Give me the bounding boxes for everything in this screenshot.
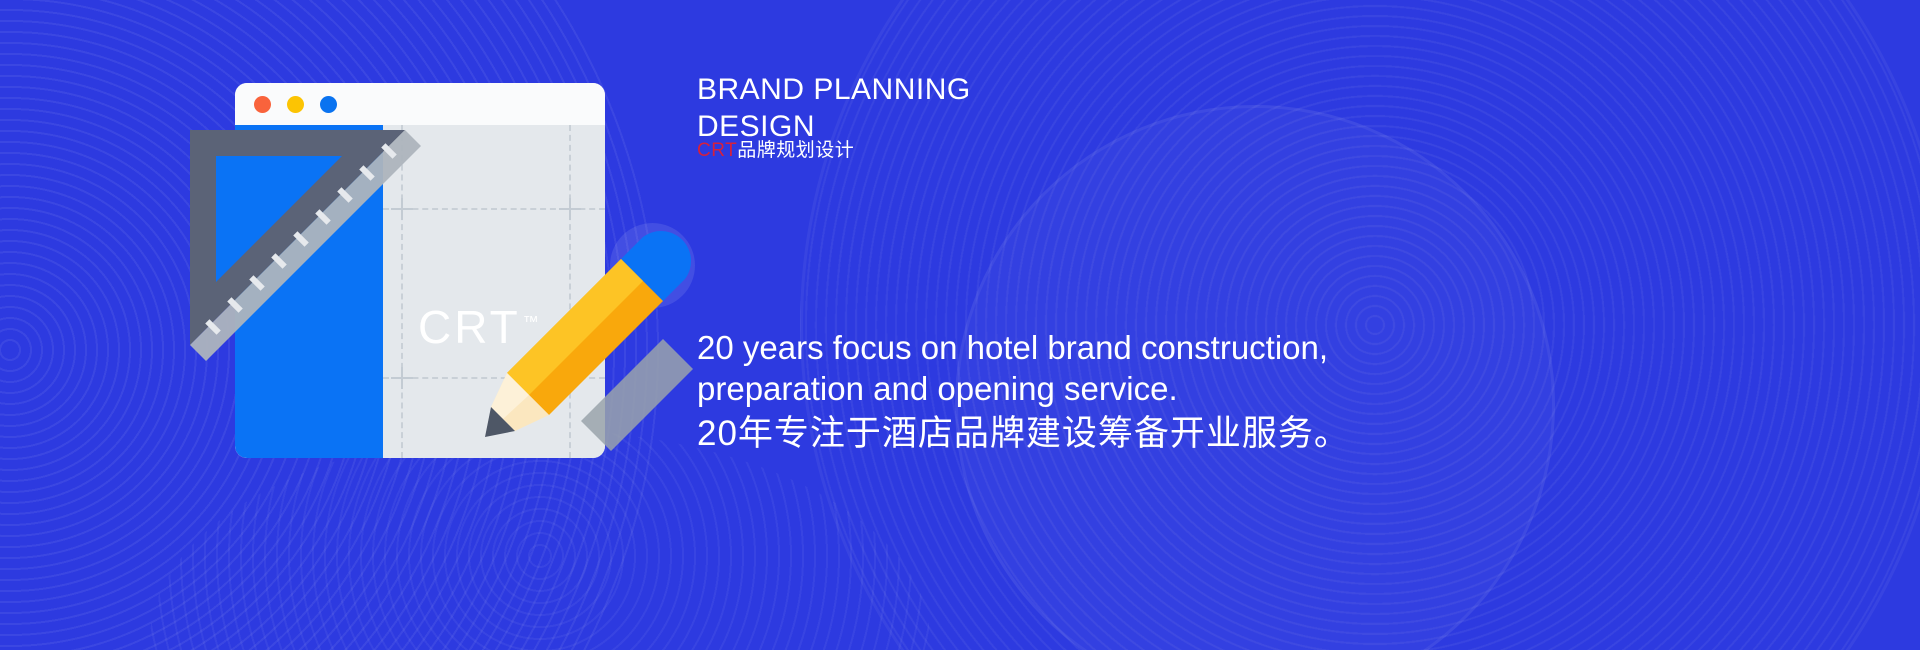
- subtitle-text: 品牌规划设计: [737, 140, 854, 161]
- hero-banner: CRT™: [0, 0, 1920, 650]
- window-title-bar: [235, 83, 605, 125]
- close-dot: [254, 96, 271, 113]
- minimize-dot: [287, 96, 304, 113]
- eyebrow-line-2: DESIGN: [697, 112, 971, 142]
- guide-crosshair-top-right: [559, 198, 581, 220]
- subtitle: CRT品牌规划设计: [697, 140, 854, 163]
- illustration: CRT™: [190, 75, 690, 475]
- subtitle-brand: CRT: [697, 140, 737, 161]
- eyebrow-line-1: BRAND PLANNING: [697, 73, 971, 106]
- triangle-ruler-icon: [190, 130, 425, 365]
- pencil-icon: [485, 225, 705, 445]
- headline-chinese: 20年专注于酒店品牌建设筹备开业服务。: [697, 411, 1350, 457]
- text-column: BRAND PLANNING DESIGN CRT品牌规划设计 20 years…: [697, 0, 1697, 650]
- eyebrow-heading: BRAND PLANNING DESIGN: [697, 75, 971, 142]
- headline-english: 20 years focus on hotel brand constructi…: [697, 327, 1357, 410]
- maximize-dot: [320, 96, 337, 113]
